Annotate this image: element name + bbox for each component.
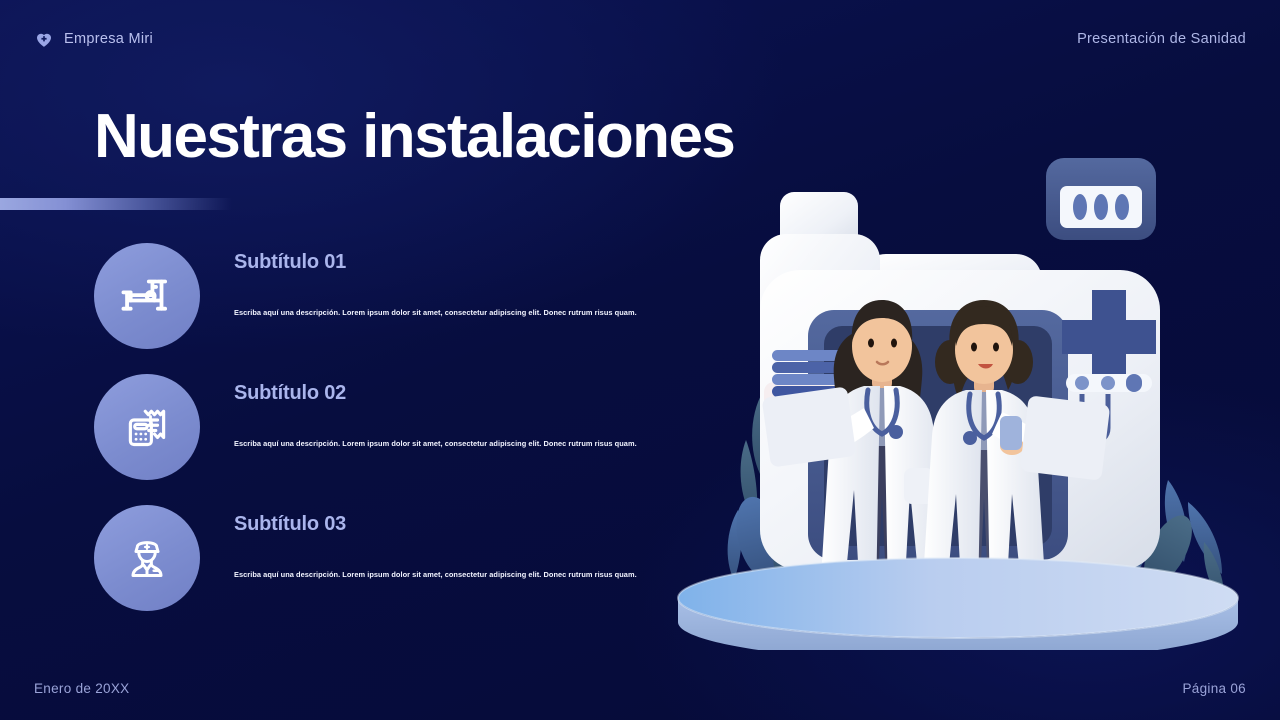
list-item: Subtítulo 02 Escriba aquí una descripció… [94, 374, 614, 505]
brand: Empresa Miri [34, 29, 153, 49]
feature-description: Escriba aquí una descripción. Lorem ipsu… [234, 570, 614, 580]
podium [678, 558, 1238, 650]
feature-text: Subtítulo 03 Escriba aquí una descripció… [234, 513, 614, 580]
heart-plus-icon [34, 29, 54, 49]
feature-text: Subtítulo 02 Escriba aquí una descripció… [234, 382, 614, 449]
header-right-label: Presentación de Sanidad [1077, 31, 1246, 47]
page-title: Nuestras instalaciones [94, 104, 734, 169]
footer-page-number: Página 06 [1182, 681, 1246, 696]
footer-date: Enero de 20XX [34, 681, 129, 696]
brand-name: Empresa Miri [64, 31, 153, 47]
list-item: Subtítulo 03 Escriba aquí una descripció… [94, 505, 614, 636]
feature-list: Subtítulo 01 Escriba aquí una descripció… [94, 243, 614, 636]
feature-description: Escriba aquí una descripción. Lorem ipsu… [234, 308, 614, 318]
medical-bill-calculator-icon [94, 374, 200, 480]
hospital-bed-icon [94, 243, 200, 349]
feature-text: Subtítulo 01 Escriba aquí una descripció… [234, 251, 614, 318]
slide-footer: Enero de 20XX Página 06 [0, 656, 1280, 720]
list-item: Subtítulo 01 Escriba aquí una descripció… [94, 243, 614, 374]
slide: Empresa Miri Presentación de Sanidad Nue… [0, 0, 1280, 720]
two-doctors-with-medical-kit-illustration [668, 150, 1248, 650]
feature-title: Subtítulo 02 [234, 382, 614, 405]
feature-description: Escriba aquí una descripción. Lorem ipsu… [234, 439, 614, 449]
accent-divider-bar [0, 198, 232, 210]
slide-header: Empresa Miri Presentación de Sanidad [0, 0, 1280, 78]
feature-title: Subtítulo 03 [234, 513, 614, 536]
feature-title: Subtítulo 01 [234, 251, 614, 274]
nurse-icon [94, 505, 200, 611]
